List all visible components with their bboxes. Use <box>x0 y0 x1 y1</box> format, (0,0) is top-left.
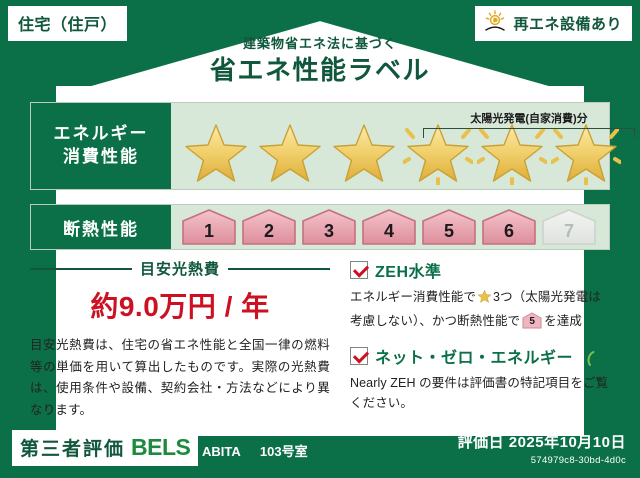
insulation-level-1: 1 <box>181 208 237 246</box>
net-zero-heading: ネット・ゼロ・エネルギー ZEH Nearly ZEH <box>350 344 612 368</box>
bels-jp-label: 第三者評価 <box>20 434 125 461</box>
energy-category-label: エネルギー 消費性能 <box>31 103 171 189</box>
zeh-house-logo-icon: ZEH Nearly ZEH <box>584 345 640 367</box>
room-number: 103号室 <box>260 444 308 459</box>
solar-bracket-label: 太陽光発電(自家消費)分 <box>417 110 640 126</box>
utility-cost-note: 目安光熱費は、住宅の省エネ性能と全国一律の燃料等の単価を用いて算出したものです。… <box>30 335 330 421</box>
solar-generation-bracket: 太陽光発電(自家消費)分 <box>417 111 640 141</box>
energy-category-line2: 消費性能 <box>63 146 139 169</box>
zeh-standard-text-3: を達成 <box>544 314 582 328</box>
insulation-level-scale: 1 2 3 <box>181 205 597 249</box>
insulation-performance-panel: 断熱性能 1 <box>30 204 610 250</box>
inline-star-icon <box>477 289 492 311</box>
star-icon <box>329 115 399 185</box>
insulation-level-value: 3 <box>324 221 334 246</box>
insulation-level-value: 2 <box>264 221 274 246</box>
utility-cost-heading: 目安光熱費 <box>30 258 330 279</box>
net-zero-title: ネット・ゼロ・エネルギー <box>375 344 573 368</box>
energy-performance-panel: エネルギー 消費性能 <box>30 102 610 190</box>
bracket-line <box>423 128 635 138</box>
insulation-level-value: 1 <box>204 221 214 246</box>
insulation-level-5: 5 <box>421 208 477 246</box>
insulation-level-2: 2 <box>241 208 297 246</box>
zeh-section: ZEH水準 エネルギー消費性能で3つ（太陽光発電は考慮しない）、かつ断熱性能で5… <box>350 258 612 426</box>
reference-id: 574979c8-30bd-4d0c <box>458 455 626 466</box>
heading-rule-right <box>228 268 330 270</box>
insulation-level-value: 6 <box>504 221 514 246</box>
insulation-level-value: 7 <box>564 221 574 246</box>
building-identifier: ABITA 103号室 <box>202 441 308 460</box>
star-icon <box>255 115 325 185</box>
net-zero-energy-block: ネット・ゼロ・エネルギー ZEH Nearly ZEH Nearly ZEH の… <box>350 344 612 415</box>
evaluation-meta: 評価日 2025年10月10日 574979c8-30bd-4d0c <box>458 431 626 466</box>
energy-category-line1: エネルギー <box>54 123 149 146</box>
heading-rule-left <box>30 268 132 270</box>
inline-house-level-icon: 5 <box>522 312 542 329</box>
bels-certification-box: 第三者評価 BELS <box>12 430 198 466</box>
building-name: ABITA <box>202 444 240 459</box>
utility-cost-heading-label: 目安光熱費 <box>140 258 220 279</box>
zeh-standard-text-1: エネルギー消費性能で <box>350 290 476 304</box>
insulation-level-7: 7 <box>541 208 597 246</box>
energy-performance-label: 住宅（住戸） 再エネ設備あり 建築物省エネ法に基づく 省エネ性能ラベル <box>0 0 640 478</box>
renewable-badge-label: 再エネ設備あり <box>513 13 622 34</box>
evaluation-date: 評価日 2025年10月10日 <box>458 431 626 452</box>
insulation-level-3: 3 <box>301 208 357 246</box>
checkmark-icon-net-zero <box>350 347 368 365</box>
inline-house-level-value: 5 <box>522 314 542 331</box>
star-icon <box>181 115 251 185</box>
bels-logo-text: BELS <box>131 434 190 461</box>
insulation-level-value: 5 <box>444 221 454 246</box>
insulation-level-6: 6 <box>481 208 537 246</box>
zeh-standard-title: ZEH水準 <box>375 258 442 282</box>
insulation-level-4: 4 <box>361 208 417 246</box>
zeh-standard-body: エネルギー消費性能で3つ（太陽光発電は考慮しない）、かつ断熱性能で5を達成 <box>350 287 612 332</box>
zeh-logo-caption: Nearly ZEH <box>626 356 640 367</box>
utility-cost-value: 約9.0万円 / 年 <box>30 285 330 325</box>
zeh-standard-block: ZEH水準 エネルギー消費性能で3つ（太陽光発電は考慮しない）、かつ断熱性能で5… <box>350 258 612 332</box>
svg-text:ZEH: ZEH <box>598 353 616 363</box>
checkmark-icon-zeh-standard <box>350 261 368 279</box>
zeh-standard-heading: ZEH水準 <box>350 258 612 282</box>
net-zero-body: Nearly ZEH の要件は評価書の特記項目をご覧ください。 <box>350 373 612 415</box>
utility-cost-section: 目安光熱費 約9.0万円 / 年 目安光熱費は、住宅の省エネ性能と全国一律の燃料… <box>30 258 330 421</box>
building-type-tag: 住宅（住戸） <box>8 6 127 41</box>
sun-solar-icon <box>483 10 507 37</box>
insulation-level-value: 4 <box>384 221 394 246</box>
zeh-logo-caption-line2: ZEH <box>626 360 636 366</box>
renewable-equipment-badge: 再エネ設備あり <box>475 6 632 41</box>
insulation-category-label: 断熱性能 <box>31 205 171 249</box>
